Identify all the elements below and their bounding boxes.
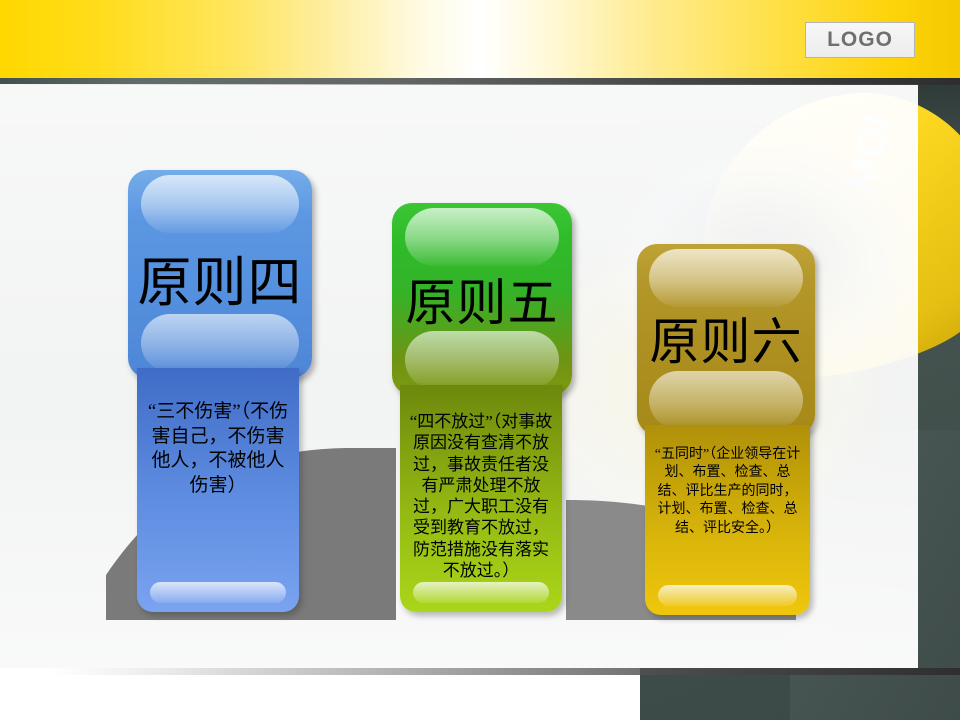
logo-label: LOGO bbox=[827, 28, 893, 52]
card-principle-5[interactable]: 原则五 “四不放过”（对事故原因没有查清不放过，事故责任者没有严肃处理不放过，广… bbox=[392, 203, 572, 612]
card-title-principle-6: 原则六 bbox=[637, 302, 815, 374]
card-gloss-bottom bbox=[141, 314, 299, 372]
card-gloss-top bbox=[405, 208, 560, 266]
header-divider bbox=[0, 78, 960, 85]
card-header-principle-6: 原则六 bbox=[637, 244, 815, 435]
card-header-principle-4: 原则四 bbox=[128, 170, 312, 378]
card-title-principle-4: 原则四 bbox=[128, 238, 312, 317]
card-gloss-bottom bbox=[649, 371, 802, 429]
card-bottom-pill bbox=[413, 582, 549, 603]
card-body-principle-4: “三不伤害”（不伤害自己，不伤害他人，不被他人伤害） bbox=[137, 368, 299, 612]
card-gloss-top bbox=[141, 175, 299, 233]
card-principle-4[interactable]: 原则四 “三不伤害”（不伤害自己，不伤害他人，不被他人伤害） bbox=[128, 170, 312, 612]
bottom-divider bbox=[50, 668, 960, 675]
card-bottom-pill bbox=[150, 582, 286, 603]
card-header-principle-5: 原则五 bbox=[392, 203, 572, 395]
panel-bottom-fill bbox=[0, 668, 640, 720]
card-body-principle-6: “五同时”（企业领导在计划、布置、检查、总结、评比生产的同时，计划、布置、检查、… bbox=[645, 425, 810, 615]
slide-canvas: MOI 原则四 “三不伤害”（不伤害自己，不伤害他人，不被他人伤害） 原则五 “… bbox=[0, 0, 960, 720]
card-body-text-principle-6: “五同时”（企业领导在计划、布置、检查、总结、评比生产的同时，计划、布置、检查、… bbox=[651, 446, 804, 538]
card-body-principle-5: “四不放过”（对事故原因没有查清不放过，事故责任者没有严肃处理不放过，广大职工没… bbox=[400, 385, 562, 612]
card-principle-6[interactable]: 原则六 “五同时”（企业领导在计划、布置、检查、总结、评比生产的同时，计划、布置… bbox=[637, 244, 815, 615]
logo-placeholder[interactable]: LOGO bbox=[805, 22, 915, 58]
card-title-principle-5: 原则五 bbox=[392, 263, 572, 335]
card-body-text-principle-5: “四不放过”（对事故原因没有查清不放过，事故责任者没有严肃处理不放过，广大职工没… bbox=[406, 411, 556, 581]
card-gloss-top bbox=[649, 249, 802, 307]
card-bottom-pill bbox=[658, 585, 797, 606]
card-gloss-bottom bbox=[405, 331, 560, 389]
card-body-text-principle-4: “三不伤害”（不伤害自己，不伤害他人，不被他人伤害） bbox=[143, 400, 293, 499]
